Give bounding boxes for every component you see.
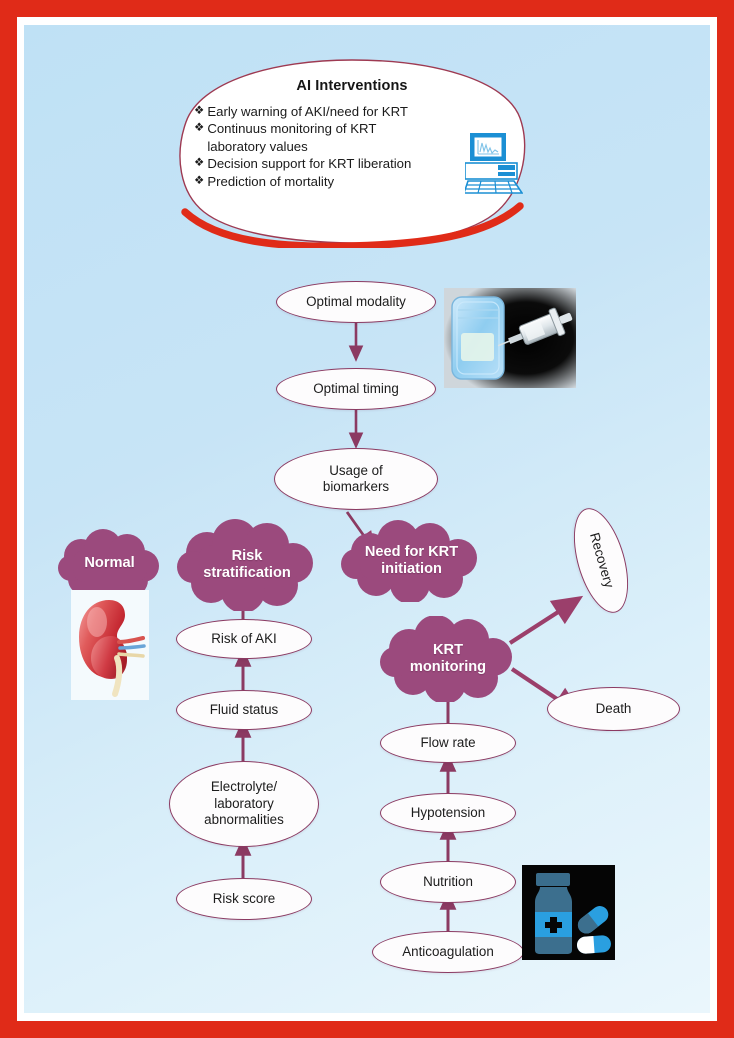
ai-bullet-item: ❖ Continuus monitoring of KRT laboratory… [194, 120, 462, 155]
node-label: Hypotension [411, 805, 485, 821]
ai-panel-title: AI Interventions [194, 78, 510, 94]
diamond-bullet-icon: ❖ [194, 103, 204, 120]
ai-interventions-panel: AI Interventions ❖ Early warning of AKI/… [176, 56, 528, 248]
ai-bullet-item: ❖ Early warning of AKI/need for KRT [194, 103, 462, 120]
medicine-bottle-pills-image [522, 865, 615, 960]
node-nutrition[interactable]: Nutrition [380, 861, 516, 903]
node-label: Nutrition [423, 874, 473, 890]
ai-item-label: Continuus monitoring of KRT laboratory v… [207, 120, 376, 155]
cloud-risk-stratification[interactable]: Risk stratification [177, 519, 317, 611]
ai-item-label: Prediction of mortality [207, 173, 334, 190]
node-optimal-modality[interactable]: Optimal modality [276, 281, 436, 323]
cloud-need-for-krt-initiation[interactable]: Need for KRT initiation [340, 520, 483, 602]
node-risk-score[interactable]: Risk score [176, 878, 312, 920]
node-label: Death [596, 701, 632, 717]
node-label: Optimal timing [313, 381, 399, 397]
node-label: Risk score [213, 891, 276, 907]
figure-frame: AI Interventions ❖ Early warning of AKI/… [0, 0, 734, 1038]
node-label: Flow rate [420, 735, 475, 751]
node-risk-of-aki[interactable]: Risk of AKI [176, 619, 312, 659]
diamond-bullet-icon: ❖ [194, 120, 204, 137]
cloud-krt-monitoring[interactable]: KRT monitoring [380, 616, 516, 702]
dialysis-bag-syringe-image [444, 288, 576, 388]
ai-bullet-item: ❖ Prediction of mortality [194, 173, 462, 190]
node-label: Fluid status [210, 702, 278, 718]
diagram-canvas: AI Interventions ❖ Early warning of AKI/… [24, 25, 710, 1013]
node-hypotension[interactable]: Hypotension [380, 793, 516, 833]
node-label: Optimal modality [306, 294, 406, 310]
node-label: Recovery [585, 531, 616, 590]
node-death[interactable]: Death [547, 687, 680, 731]
node-anticoagulation[interactable]: Anticoagulation [372, 931, 524, 973]
node-label: Usage of biomarkers [323, 463, 389, 496]
node-usage-of-biomarkers[interactable]: Usage of biomarkers [274, 448, 438, 510]
node-label: Risk of AKI [211, 631, 277, 647]
node-label: Anticoagulation [402, 944, 494, 960]
node-label: Electrolyte/ laboratory abnormalities [204, 779, 284, 828]
diamond-bullet-icon: ❖ [194, 173, 204, 190]
node-optimal-timing[interactable]: Optimal timing [276, 368, 436, 410]
node-fluid-status[interactable]: Fluid status [176, 690, 312, 730]
node-flow-rate[interactable]: Flow rate [380, 723, 516, 763]
ai-bullet-item: ❖ Decision support for KRT liberation [194, 155, 462, 172]
diamond-bullet-icon: ❖ [194, 155, 204, 172]
desktop-computer-icon [465, 132, 523, 194]
kidney-anatomy-image [71, 590, 149, 700]
node-electrolyte-laboratory-abnormalities[interactable]: Electrolyte/ laboratory abnormalities [169, 761, 319, 847]
ai-item-label: Early warning of AKI/need for KRT [207, 103, 408, 120]
ai-item-label: Decision support for KRT liberation [207, 155, 411, 172]
